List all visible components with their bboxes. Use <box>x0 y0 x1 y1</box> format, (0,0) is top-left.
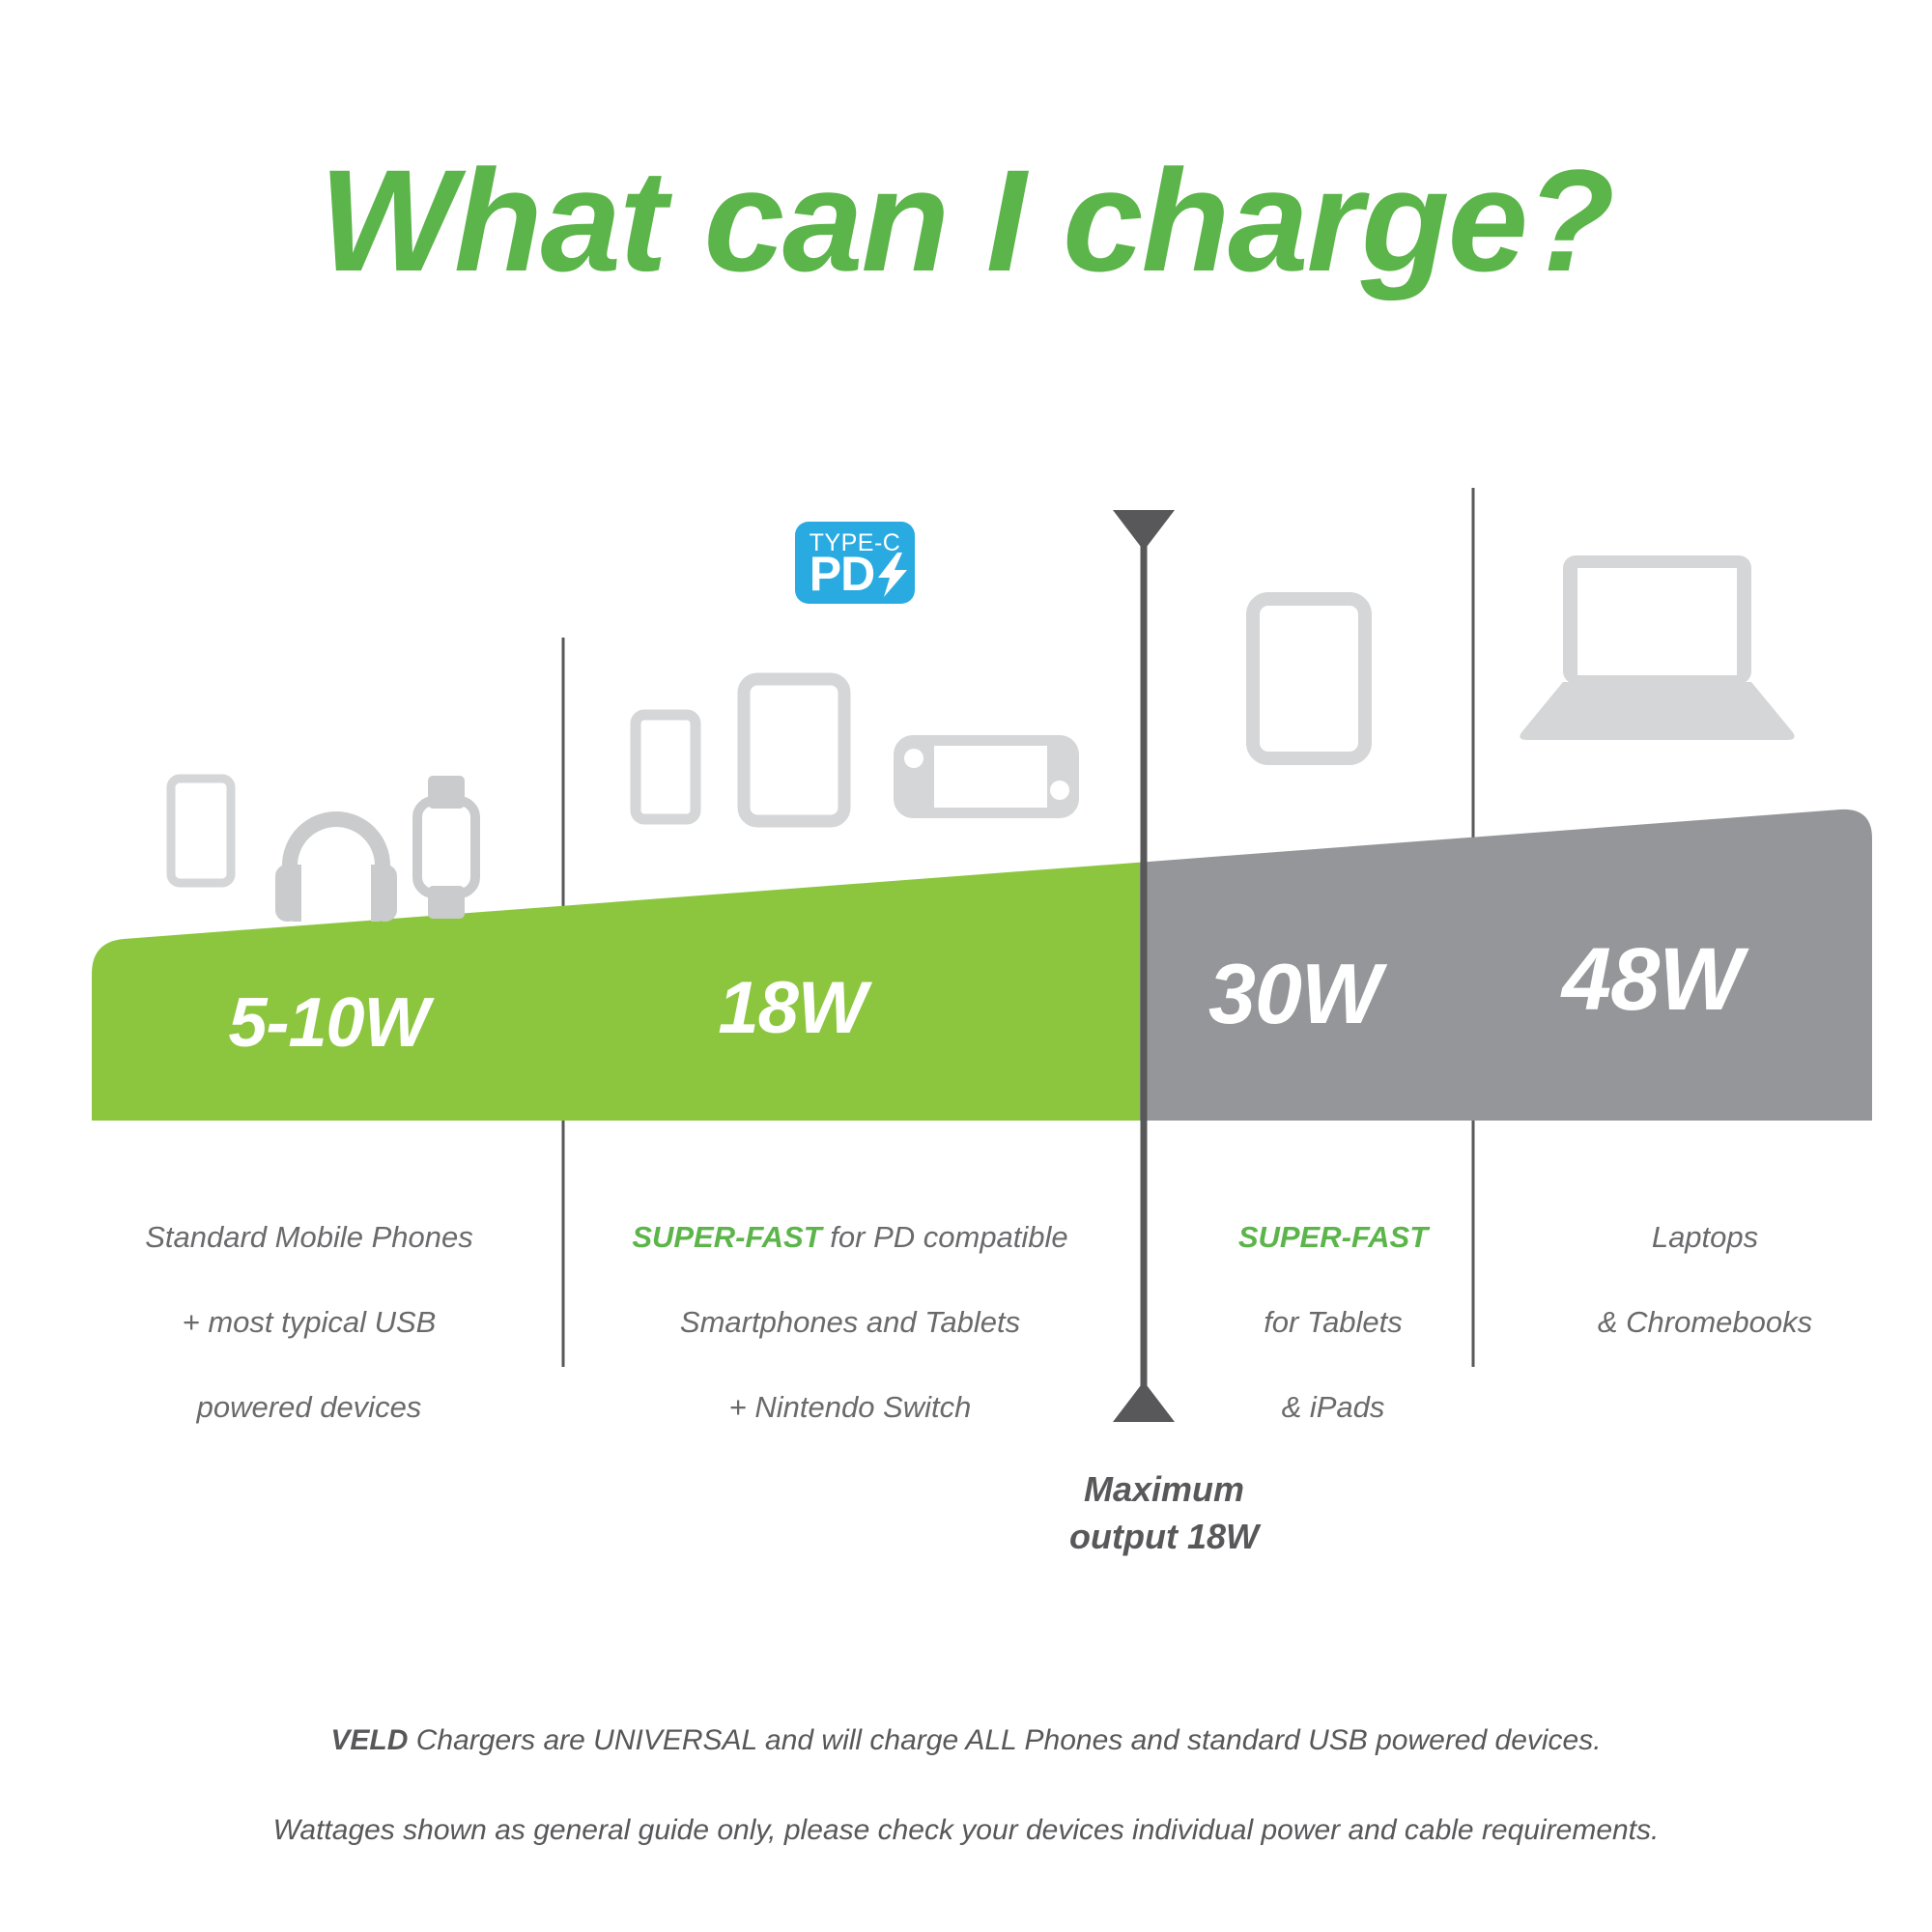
caption-line: Standard Mobile Phones <box>68 1216 551 1259</box>
caption-line: & Chromebooks <box>1517 1301 1893 1344</box>
caption-line: Laptops <box>1517 1216 1893 1259</box>
triangle-down-icon <box>1113 510 1175 551</box>
footer-line-2: Wattages shown as general guide only, pl… <box>0 1814 1932 1847</box>
badge-main-text: PD <box>801 550 883 598</box>
type-c-pd-badge: TYPE-C PD <box>795 522 915 604</box>
caption-line: + most typical USB <box>68 1301 551 1344</box>
caption-30w: SUPER-FAST for Tablets & iPads <box>1154 1174 1512 1471</box>
infographic-page: What can I charge? <box>0 0 1932 1932</box>
caption-5-10w: Standard Mobile Phones + most typical US… <box>68 1174 551 1471</box>
footer-line-1: VELD Chargers are UNIVERSAL and will cha… <box>0 1724 1932 1757</box>
caption-line: + Nintendo Switch <box>570 1386 1130 1429</box>
lightning-bolt-icon <box>876 553 909 597</box>
marker-label-line: Maximum <box>995 1466 1333 1514</box>
caption-highlight: SUPER-FAST <box>1154 1216 1512 1259</box>
marker-label-line: output 18W <box>995 1514 1333 1561</box>
caption-18w: SUPER-FAST for PD compatible Smartphones… <box>570 1174 1130 1471</box>
chart-stage: TYPE-C PD 5-10W 18W 30W 48W Standard Mob… <box>0 0 1932 1932</box>
brand-name: VELD <box>330 1724 408 1756</box>
footer-line-1-rest: Chargers are UNIVERSAL and will charge A… <box>408 1724 1601 1756</box>
wattage-label-5-10w: 5-10W <box>126 983 531 1063</box>
caption-highlight: SUPER-FAST <box>632 1220 821 1254</box>
caption-line: for Tablets <box>1154 1301 1512 1344</box>
caption-line: Smartphones and Tablets <box>570 1301 1130 1344</box>
caption-line-rest: for PD compatible <box>822 1220 1068 1254</box>
caption-line: & iPads <box>1154 1386 1512 1429</box>
caption-line: powered devices <box>68 1386 551 1429</box>
wattage-label-18w: 18W <box>599 966 985 1050</box>
wattage-label-30w: 30W <box>1140 945 1449 1043</box>
caption-48w: Laptops & Chromebooks <box>1517 1174 1893 1386</box>
caption-line: SUPER-FAST for PD compatible <box>570 1216 1130 1259</box>
wattage-label-48w: 48W <box>1488 929 1816 1031</box>
maximum-output-label: Maximum output 18W <box>995 1466 1333 1560</box>
